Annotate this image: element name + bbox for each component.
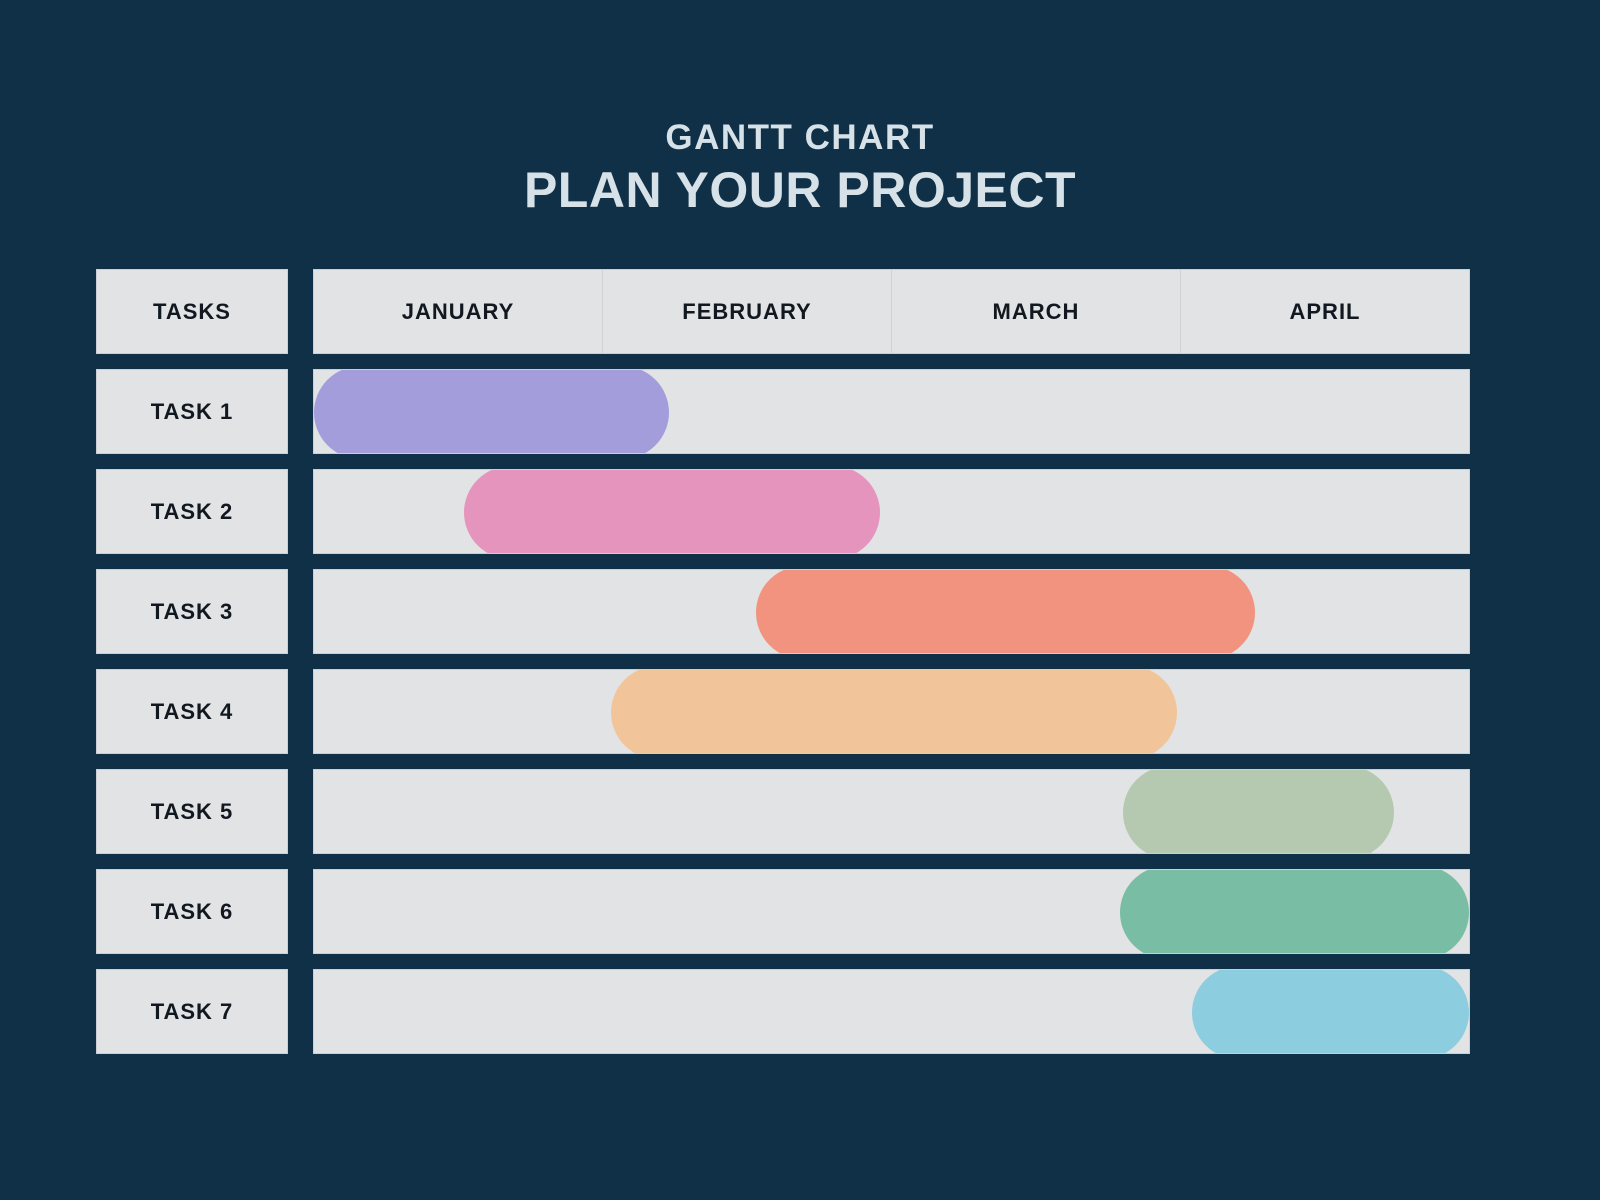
task-label-4: TASK 4 xyxy=(151,699,234,725)
task-track-5 xyxy=(313,769,1470,854)
task-label-2: TASK 2 xyxy=(151,499,234,525)
title-block: GANTT CHART PLAN YOUR PROJECT xyxy=(0,118,1600,220)
task-label-cell-6[interactable]: TASK 6 xyxy=(96,869,288,954)
table-row: TASK 5 xyxy=(96,769,1470,854)
gantt-header-row: TASKS JANUARY FEBRUARY MARCH APRIL xyxy=(96,269,1470,354)
gantt-bar-task-2[interactable] xyxy=(464,469,880,554)
task-track-6 xyxy=(313,869,1470,954)
table-row: TASK 4 xyxy=(96,669,1470,754)
task-label-cell-3[interactable]: TASK 3 xyxy=(96,569,288,654)
gantt-bar-task-5[interactable] xyxy=(1123,769,1394,854)
months-header: JANUARY FEBRUARY MARCH APRIL xyxy=(314,270,1469,353)
task-track-4 xyxy=(313,669,1470,754)
task-label-6: TASK 6 xyxy=(151,899,234,925)
tasks-header-label: TASKS xyxy=(153,299,231,325)
month-cell-january: JANUARY xyxy=(314,270,603,353)
task-label-5: TASK 5 xyxy=(151,799,234,825)
table-row: TASK 2 xyxy=(96,469,1470,554)
gantt-grid: TASKS JANUARY FEBRUARY MARCH APRIL xyxy=(96,269,1470,1059)
month-label-february: FEBRUARY xyxy=(682,299,811,325)
task-track-1 xyxy=(313,369,1470,454)
chart-eyebrow-label: GANTT CHART xyxy=(0,118,1600,158)
table-row: TASK 7 xyxy=(96,969,1470,1054)
task-track-3 xyxy=(313,569,1470,654)
gantt-bar-task-7[interactable] xyxy=(1192,969,1469,1054)
task-label-3: TASK 3 xyxy=(151,599,234,625)
task-label-cell-7[interactable]: TASK 7 xyxy=(96,969,288,1054)
month-label-january: JANUARY xyxy=(402,299,515,325)
month-label-march: MARCH xyxy=(993,299,1080,325)
gantt-bar-task-6[interactable] xyxy=(1120,869,1469,954)
task-label-1: TASK 1 xyxy=(151,399,234,425)
table-row: TASK 1 xyxy=(96,369,1470,454)
page-title: PLAN YOUR PROJECT xyxy=(0,162,1600,220)
month-cell-february: FEBRUARY xyxy=(603,270,892,353)
task-label-cell-4[interactable]: TASK 4 xyxy=(96,669,288,754)
task-track-7 xyxy=(313,969,1470,1054)
table-row: TASK 6 xyxy=(96,869,1470,954)
month-cell-march: MARCH xyxy=(892,270,1181,353)
months-header-track: JANUARY FEBRUARY MARCH APRIL xyxy=(313,269,1470,354)
task-label-7: TASK 7 xyxy=(151,999,234,1025)
gantt-bar-task-3[interactable] xyxy=(756,569,1256,654)
gantt-bar-task-4[interactable] xyxy=(611,669,1177,754)
task-label-cell-2[interactable]: TASK 2 xyxy=(96,469,288,554)
gantt-chart-page: GANTT CHART PLAN YOUR PROJECT TASKS JANU… xyxy=(0,0,1600,1200)
task-track-2 xyxy=(313,469,1470,554)
task-label-cell-5[interactable]: TASK 5 xyxy=(96,769,288,854)
table-row: TASK 3 xyxy=(96,569,1470,654)
month-label-april: APRIL xyxy=(1290,299,1361,325)
task-label-cell-1[interactable]: TASK 1 xyxy=(96,369,288,454)
month-cell-april: APRIL xyxy=(1181,270,1469,353)
gantt-bar-task-1[interactable] xyxy=(314,369,669,454)
tasks-header-cell: TASKS xyxy=(96,269,288,354)
